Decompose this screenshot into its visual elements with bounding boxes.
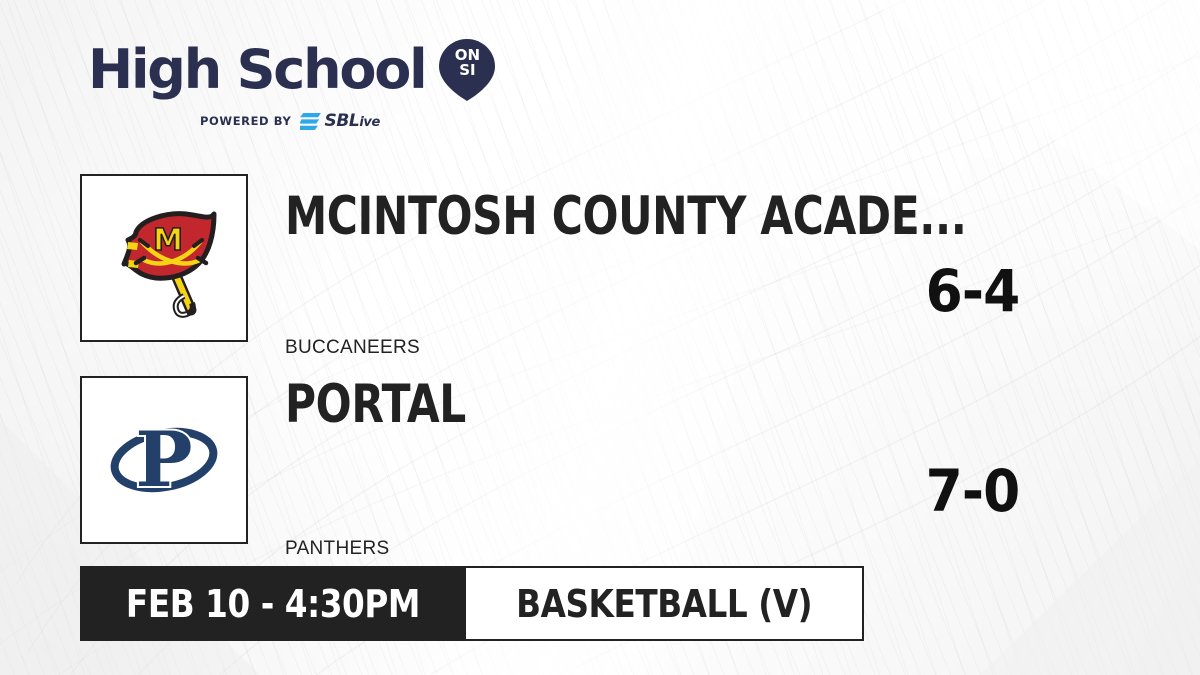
pin-label: ON SI	[437, 48, 497, 78]
powered-by-label: POWERED BY	[200, 114, 291, 128]
team-mascot-2: PANTHERS	[285, 538, 389, 560]
mcintosh-buccaneers-pirate-flag-logo: M	[98, 192, 230, 324]
team-logo-box-1: M	[80, 174, 248, 342]
pin-line-si: SI	[437, 63, 497, 78]
team-name-2: PORTAL	[285, 378, 466, 431]
svg-text:P: P	[135, 415, 192, 504]
team-record-1: 6-4	[910, 262, 1034, 320]
event-sport-chip: BASKETBALL (V)	[466, 566, 864, 641]
sblive-wordmark: SBLive	[324, 113, 379, 130]
game-preview-card: High School ON SI POWERED BY SBLive	[0, 0, 1200, 675]
sblive-word-suffix: ive	[359, 115, 380, 130]
event-info-bar: FEB 10 - 4:30PM BASKETBALL (V)	[80, 566, 864, 641]
event-datetime-chip: FEB 10 - 4:30PM	[80, 566, 466, 641]
brand-wordmark: High School	[88, 43, 425, 97]
powered-by-row: POWERED BY SBLive	[88, 111, 508, 131]
sblive-word-main: SBL	[324, 111, 359, 131]
portal-panthers-p-oval-logo: P	[98, 394, 230, 526]
brand-header: High School ON SI POWERED BY SBLive	[88, 36, 508, 136]
sblive-logo: SBLive	[300, 113, 379, 130]
sblive-s-mark-icon	[300, 113, 322, 130]
event-sport-label: BASKETBALL (V)	[516, 585, 812, 623]
team-mascot-1: BUCCANEERS	[285, 337, 420, 359]
team-name-1: MCINTOSH COUNTY ACADE...	[285, 190, 966, 243]
team-record-2: 7-0	[910, 462, 1034, 520]
map-pin-icon: ON SI	[437, 38, 497, 102]
svg-text:M: M	[153, 223, 183, 258]
team-logo-box-2: P	[80, 376, 248, 544]
event-datetime-label: FEB 10 - 4:30PM	[126, 585, 420, 623]
brand-logo-row: High School ON SI	[88, 36, 508, 104]
